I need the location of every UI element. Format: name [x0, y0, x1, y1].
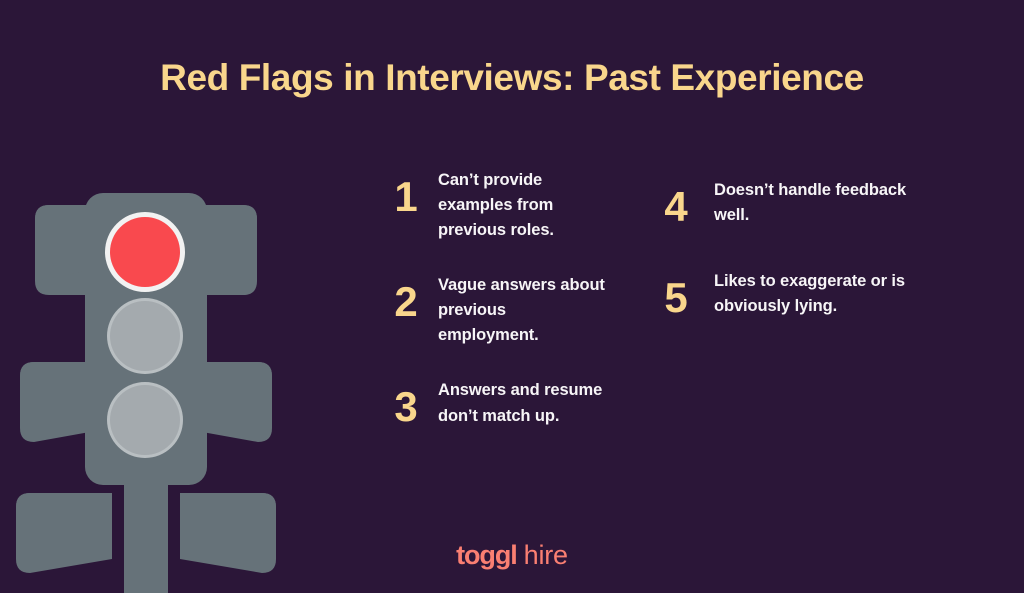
list-item: 5 Likes to exaggerate or is obviously ly…	[660, 269, 930, 319]
logo-primary-text: toggl	[456, 540, 516, 570]
traffic-light-illustration	[16, 180, 276, 593]
page-title: Red Flags in Interviews: Past Experience	[0, 57, 1024, 99]
list-item-text: Can’t provide examples from previous rol…	[438, 168, 605, 243]
list-item: 2 Vague answers about previous employmen…	[390, 273, 605, 348]
list-item-number: 1	[390, 176, 422, 218]
traffic-light-pole	[124, 470, 168, 593]
list-item: 4 Doesn’t handle feedback well.	[660, 178, 930, 228]
green-lamp	[110, 385, 180, 455]
poster: Red Flags in Interviews: Past Experience	[0, 0, 1024, 593]
red-flags-list-right: 4 Doesn’t handle feedback well. 5 Likes …	[660, 178, 930, 319]
list-item-text: Likes to exaggerate or is obviously lyin…	[714, 269, 930, 319]
list-item: 1 Can’t provide examples from previous r…	[390, 168, 605, 243]
logo-secondary-text: hire	[524, 540, 568, 570]
red-lamp	[110, 217, 180, 287]
list-item-number: 3	[390, 386, 422, 428]
list-item-number: 5	[660, 277, 692, 319]
list-item: 3 Answers and resume don’t match up.	[390, 378, 605, 428]
toggl-hire-logo: togglhire	[0, 540, 1024, 571]
red-flags-list-left: 1 Can’t provide examples from previous r…	[390, 168, 605, 429]
list-item-number: 2	[390, 281, 422, 323]
list-item-number: 4	[660, 186, 692, 228]
list-item-text: Answers and resume don’t match up.	[438, 378, 605, 428]
list-item-text: Doesn’t handle feedback well.	[714, 178, 930, 228]
yellow-lamp	[110, 301, 180, 371]
list-item-text: Vague answers about previous employment.	[438, 273, 605, 348]
